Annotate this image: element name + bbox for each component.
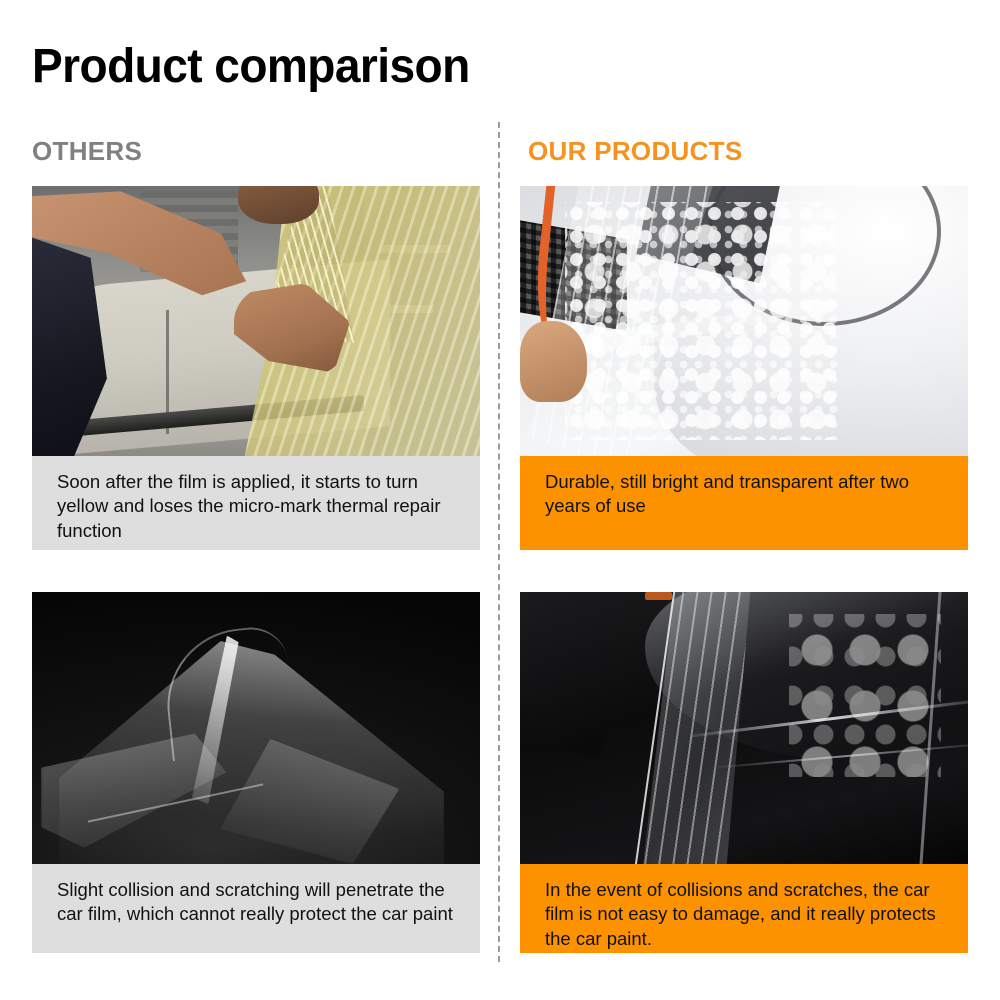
photo-film-peak-dark — [32, 592, 480, 864]
photo-orange-accent — [645, 592, 672, 600]
panel-ours-top: Durable, still bright and transparent af… — [520, 186, 968, 550]
column-header-our-products: OUR PRODUCTS — [528, 136, 743, 167]
caption-others-top: Soon after the film is applied, it start… — [32, 456, 480, 550]
caption-ours-top: Durable, still bright and transparent af… — [520, 456, 968, 550]
photo-yellowed-film-peel — [32, 186, 480, 456]
product-comparison-page: Product comparison OTHERS OUR PRODUCTS S… — [0, 0, 1000, 1000]
panel-others-bottom: Slight collision and scratching will pen… — [32, 592, 480, 953]
column-divider — [498, 122, 500, 962]
caption-others-bottom: Slight collision and scratching will pen… — [32, 864, 480, 953]
photo-clear-film-white-car — [520, 186, 968, 456]
column-header-others: OTHERS — [32, 136, 142, 167]
photo-installer-hand — [520, 321, 587, 402]
caption-ours-bottom: In the event of collisions and scratches… — [520, 864, 968, 953]
panel-others-top: Soon after the film is applied, it start… — [32, 186, 480, 550]
photo-water-beads — [565, 202, 843, 440]
page-title: Product comparison — [32, 42, 470, 92]
photo-reflection-specks — [789, 614, 941, 777]
panel-ours-bottom: In the event of collisions and scratches… — [520, 592, 968, 953]
photo-clear-film-black-car — [520, 592, 968, 864]
